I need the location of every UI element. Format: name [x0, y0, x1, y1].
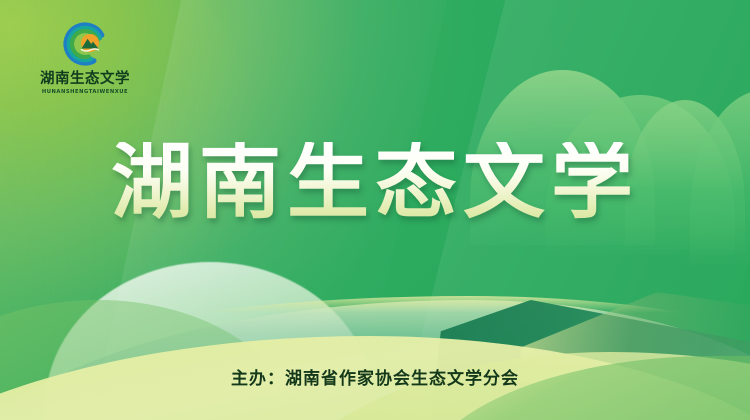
logo-subtitle: HUNANSHENGTAIWENXUE [26, 89, 144, 95]
pale-dome-shape [45, 262, 375, 420]
logo-block[interactable]: 湖南生态文学 HUNANSHENGTAIWENXUE [26, 18, 144, 95]
dark-ridge-shape [430, 300, 750, 420]
rolling-band-teal [0, 300, 750, 420]
rolling-band-highlight [0, 296, 750, 416]
logo-title: 湖南生态文学 [26, 72, 144, 87]
organizer-credit: 主办：湖南省作家协会生态文学分会 [0, 364, 750, 389]
banner-root: 湖南生态文学 HUNANSHENGTAIWENXUE 湖南生态文学 主办：湖南省… [0, 0, 750, 420]
green-sliver-shape [0, 300, 300, 420]
page-title: 湖南生态文学 [0, 142, 750, 224]
mountain-wave-circle-icon [59, 18, 111, 70]
